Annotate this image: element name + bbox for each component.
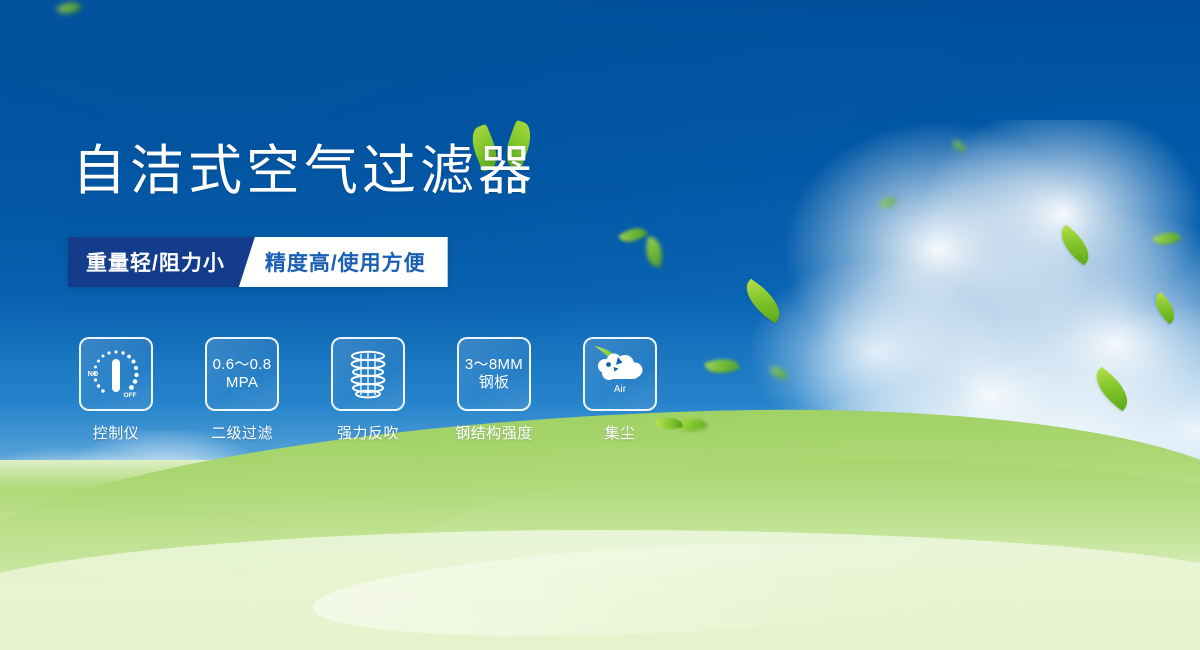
feature-icon-box: 0.6〜0.8 MPA: [205, 337, 279, 411]
feature-label: 钢结构强度: [455, 422, 533, 443]
subtitle-left-segment: 重量轻/阻力小: [68, 237, 255, 287]
subtitle-bar: 重量轻/阻力小 精度高/使用方便: [68, 237, 448, 287]
subtitle-right-segment: 精度高/使用方便: [239, 237, 448, 287]
feature-icon-box: [331, 337, 405, 411]
pressure-range: 0.6〜0.8: [213, 356, 272, 374]
feature-label: 集尘: [604, 422, 635, 443]
feature-label: 控制仪: [93, 422, 140, 443]
promo-banner: 自洁式空气过滤器 重量轻/阻力小 精度高/使用方便: [0, 0, 1200, 650]
leaf-icon: [655, 414, 683, 432]
feature-label: 强力反吹: [337, 422, 399, 443]
feature-item-reverse-blow[interactable]: 强力反吹: [328, 337, 408, 443]
air-label: Air: [614, 384, 627, 395]
cloud-air-icon: Air: [588, 342, 652, 406]
pressure-unit: MPA: [213, 374, 272, 392]
feature-list: NO OFF 控制仪 0.6〜0.8 MPA 二级过滤: [76, 337, 660, 443]
feature-label-wrap: 集尘: [604, 411, 635, 443]
filter-cartridge-icon: [339, 345, 397, 403]
banner-title: 自洁式空气过滤器: [72, 142, 536, 200]
feature-label: 二级过滤: [211, 422, 273, 443]
dial-label-off: OFF: [124, 392, 137, 399]
steel-plate-text-icon: 3〜8MM 钢板: [465, 356, 523, 393]
steel-material: 钢板: [465, 374, 523, 392]
pressure-text-icon: 0.6〜0.8 MPA: [213, 356, 272, 393]
steel-thickness: 3〜8MM: [465, 356, 523, 374]
feature-icon-box: Air: [583, 337, 657, 411]
feature-item-controller[interactable]: NO OFF 控制仪: [76, 337, 156, 443]
feature-item-steel-strength[interactable]: 3〜8MM 钢板 钢结构强度: [454, 337, 534, 443]
feature-item-dust-collection[interactable]: Air 集尘: [580, 337, 660, 443]
feature-item-two-stage-filter[interactable]: 0.6〜0.8 MPA 二级过滤: [202, 337, 282, 443]
feature-icon-box: NO OFF: [79, 337, 153, 411]
feature-icon-box: 3〜8MM 钢板: [457, 337, 531, 411]
gauge-dial-icon: NO OFF: [84, 342, 148, 406]
dial-label-no: NO: [88, 371, 99, 378]
banner-content: 自洁式空气过滤器 重量轻/阻力小 精度高/使用方便: [0, 0, 1200, 650]
